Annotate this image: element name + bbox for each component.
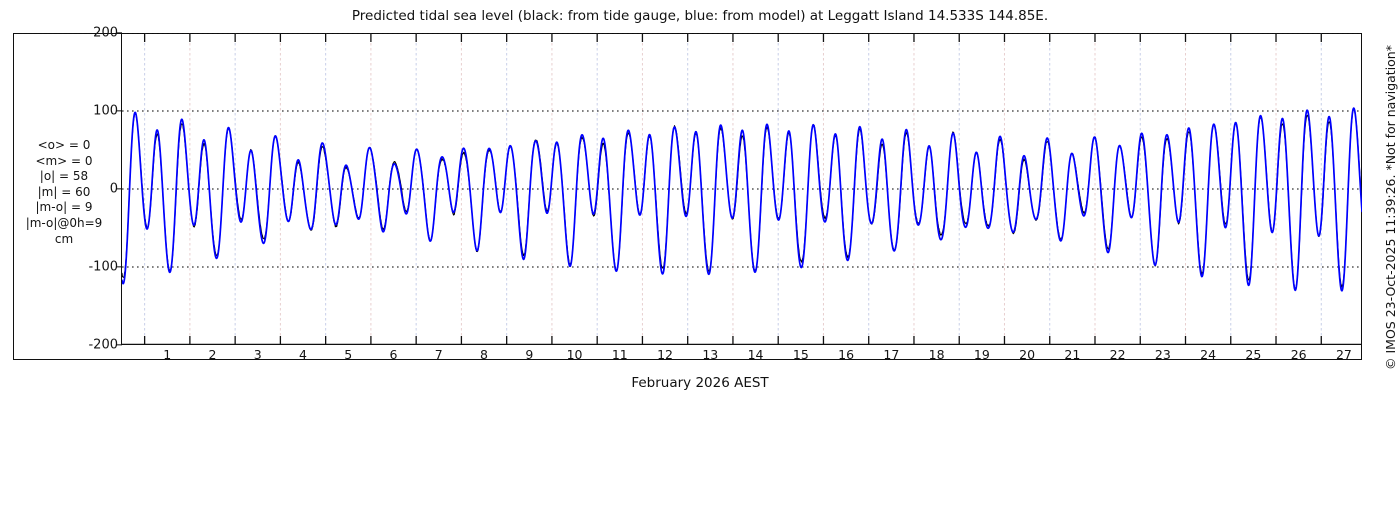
x-tick-label-26: 26	[1291, 347, 1307, 362]
x-tick-label-12: 12	[657, 347, 673, 362]
x-tick-label-16: 16	[838, 347, 854, 362]
x-axis-ticks: 1234567891011121314151617181920212223242…	[122, 345, 1362, 367]
x-tick-label-23: 23	[1155, 347, 1171, 362]
copyright-text: © IMOS 23-Oct-2025 11:39:26. *Not for na…	[1383, 45, 1398, 370]
x-tick-label-3: 3	[254, 347, 262, 362]
x-tick-label-19: 19	[974, 347, 990, 362]
statistics-block: <o> = 0<m> = 0|o| = 58|m| = 60|m-o| = 9|…	[8, 138, 120, 247]
x-tick-label-20: 20	[1019, 347, 1035, 362]
x-tick-label-24: 24	[1200, 347, 1216, 362]
statistics-line-6: cm	[8, 232, 120, 248]
y-tick-label-100: 100	[93, 104, 118, 119]
x-tick-label-27: 27	[1336, 347, 1352, 362]
x-tick-label-15: 15	[793, 347, 809, 362]
x-tick-label-11: 11	[612, 347, 628, 362]
x-tick-label-22: 22	[1110, 347, 1126, 362]
x-tick-label-17: 17	[883, 347, 899, 362]
statistics-line-2: |o| = 58	[8, 169, 120, 185]
x-tick-label-5: 5	[344, 347, 352, 362]
x-tick-label-25: 25	[1245, 347, 1261, 362]
series-line-observed	[122, 109, 1362, 289]
x-tick-label-21: 21	[1064, 347, 1080, 362]
page-title: Predicted tidal sea level (black: from t…	[0, 8, 1400, 24]
x-tick-label-7: 7	[435, 347, 443, 362]
statistics-line-0: <o> = 0	[8, 138, 120, 154]
tidal-chart-page: Predicted tidal sea level (black: from t…	[0, 0, 1400, 400]
y-tick-label--100: -100	[88, 260, 118, 275]
statistics-line-4: |m-o| = 9	[8, 200, 120, 216]
x-axis-title: February 2026 AEST	[0, 375, 1400, 391]
statistics-line-5: |m-o|@0h=9	[8, 216, 120, 232]
x-tick-label-4: 4	[299, 347, 307, 362]
statistics-line-1: <m> = 0	[8, 154, 120, 170]
x-tick-label-13: 13	[702, 347, 718, 362]
tidal-series-svg	[122, 33, 1362, 345]
y-tick-label-200: 200	[93, 26, 118, 41]
x-tick-label-9: 9	[525, 347, 533, 362]
x-tick-label-14: 14	[748, 347, 764, 362]
plot-area	[122, 33, 1362, 345]
statistics-line-3: |m| = 60	[8, 185, 120, 201]
x-tick-label-1: 1	[163, 347, 171, 362]
x-tick-label-6: 6	[390, 347, 398, 362]
x-tick-label-2: 2	[209, 347, 217, 362]
x-tick-label-10: 10	[567, 347, 583, 362]
x-tick-label-18: 18	[929, 347, 945, 362]
copyright-notice: © IMOS 23-Oct-2025 11:39:26. *Not for na…	[1391, 208, 1400, 532]
x-tick-label-8: 8	[480, 347, 488, 362]
y-tick-label--200: -200	[88, 338, 118, 353]
